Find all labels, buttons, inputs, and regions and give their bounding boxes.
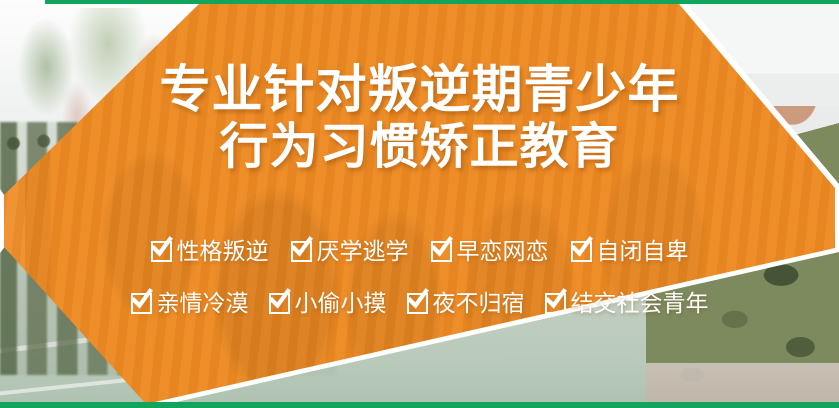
promo-banner: 专业针对叛逆期青少年 行为习惯矫正教育 性格叛逆 厌学逃学 xyxy=(0,0,839,408)
checklist-item-label: 夜不归宿 xyxy=(433,290,525,316)
checklist-item-xiaotouxiaomo[interactable]: 小偷小摸 xyxy=(269,290,387,316)
checkbox-checked-icon[interactable] xyxy=(545,293,566,314)
checklist-item-label: 早恋网恋 xyxy=(457,238,549,264)
headline-line-2: 行为习惯矫正教育 xyxy=(0,118,839,176)
checklist-item-label: 性格叛逆 xyxy=(177,238,269,264)
checklist-item-xinggepanni[interactable]: 性格叛逆 xyxy=(151,238,269,264)
checklist-row-1: 性格叛逆 厌学逃学 早恋网恋 xyxy=(0,238,839,264)
checkbox-checked-icon[interactable] xyxy=(431,241,452,262)
checklist-item-jiejiaoshehuiqingnian[interactable]: 结交社会青年 xyxy=(545,290,709,316)
checklist-item-label: 小偷小摸 xyxy=(295,290,387,316)
checklist-item-zibizibei[interactable]: 自闭自卑 xyxy=(571,238,689,264)
checkbox-checked-icon[interactable] xyxy=(407,293,428,314)
checkbox-checked-icon[interactable] xyxy=(291,241,312,262)
checklist-item-label: 结交社会青年 xyxy=(571,290,709,316)
headline-line-1: 专业针对叛逆期青少年 xyxy=(0,62,839,118)
checkbox-checked-icon[interactable] xyxy=(269,293,290,314)
checkbox-checked-icon[interactable] xyxy=(151,241,172,262)
banner-content: 专业针对叛逆期青少年 行为习惯矫正教育 性格叛逆 厌学逃学 xyxy=(0,0,839,408)
checklist-item-label: 亲情冷漠 xyxy=(157,290,249,316)
checklist: 性格叛逆 厌学逃学 早恋网恋 xyxy=(0,238,839,316)
checkbox-checked-icon[interactable] xyxy=(131,293,152,314)
headline: 专业针对叛逆期青少年 行为习惯矫正教育 xyxy=(0,62,839,176)
checklist-item-yebuguisu[interactable]: 夜不归宿 xyxy=(407,290,525,316)
checklist-row-2: 亲情冷漠 小偷小摸 夜不归宿 xyxy=(0,290,839,316)
checklist-item-yanxuetaoxue[interactable]: 厌学逃学 xyxy=(291,238,409,264)
checklist-item-label: 厌学逃学 xyxy=(317,238,409,264)
checklist-item-zaolianwanglian[interactable]: 早恋网恋 xyxy=(431,238,549,264)
checkbox-checked-icon[interactable] xyxy=(571,241,592,262)
checklist-item-qinqinglengmo[interactable]: 亲情冷漠 xyxy=(131,290,249,316)
checklist-item-label: 自闭自卑 xyxy=(597,238,689,264)
